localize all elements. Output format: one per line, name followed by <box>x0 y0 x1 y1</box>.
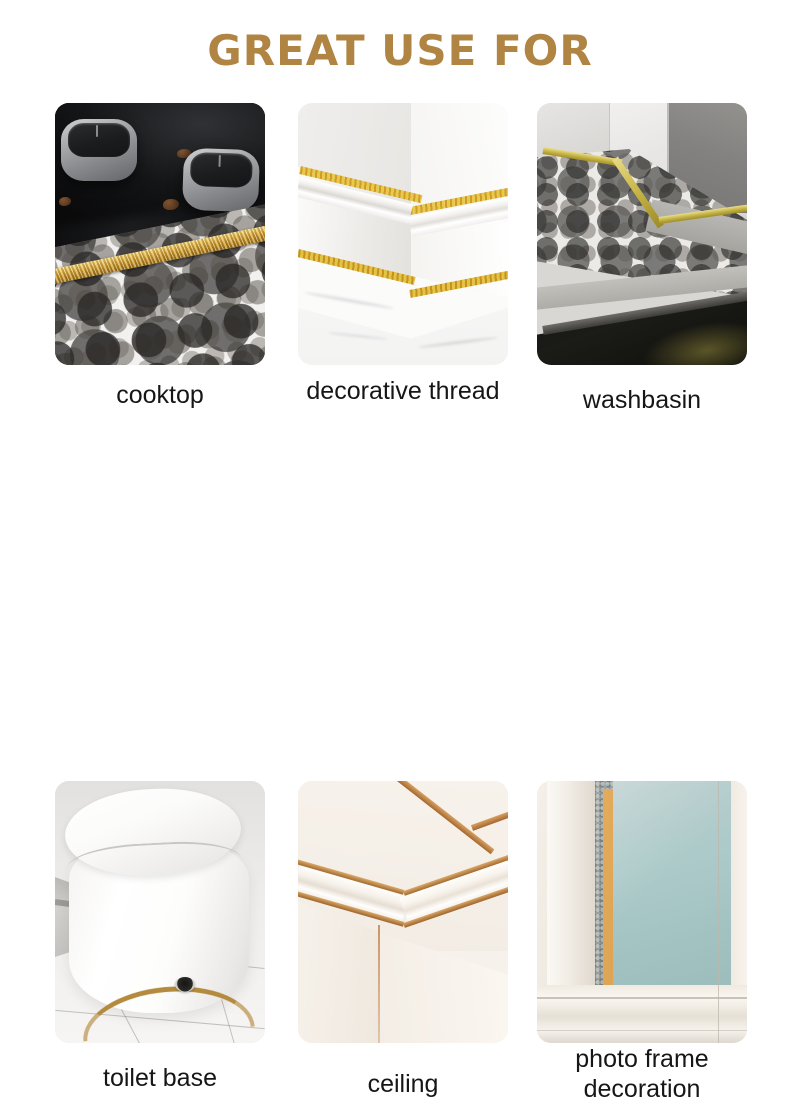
frame-panel <box>613 781 731 989</box>
washbasin-image <box>537 103 747 365</box>
marble-vein <box>304 291 393 310</box>
cooktop-image <box>55 103 265 365</box>
caption-photo-frame-decoration: photo frame decoration <box>527 1045 757 1104</box>
ceiling-image <box>298 781 508 1043</box>
toilet-flush-button[interactable] <box>175 977 195 992</box>
grid-cell-ceiling[interactable]: ceiling <box>298 781 508 1043</box>
toilet-base-image <box>55 781 265 1043</box>
grid-cell-toilet-base[interactable]: toilet base <box>55 781 265 1043</box>
frame-right-groove <box>718 781 719 1043</box>
caption-cooktop: cooktop <box>45 381 275 411</box>
grid-row-2: toilet base ceiling <box>0 442 800 782</box>
grid-cell-washbasin[interactable]: washbasin <box>537 103 747 365</box>
grid-cell-cooktop[interactable]: cooktop <box>55 103 265 365</box>
wall-corner-line <box>378 925 380 1043</box>
panel-sheen <box>613 781 731 989</box>
grid-row-1: cooktop decorative thread <box>0 103 800 442</box>
caption-toilet-base: toilet base <box>45 1064 275 1094</box>
photo-frame-image <box>537 781 747 1043</box>
frame-bottom-groove-2 <box>537 1030 747 1031</box>
cooktop-knob-right[interactable] <box>182 148 260 213</box>
caption-decorative-thread: decorative thread <box>288 377 518 407</box>
use-case-grid: cooktop decorative thread <box>0 103 800 782</box>
grid-cell-decorative-thread[interactable]: decorative thread <box>298 103 508 365</box>
cooktop-knob-left[interactable] <box>61 119 137 181</box>
frame-bottom-rail <box>537 985 747 1043</box>
page-title: GREAT USE FOR <box>0 26 800 75</box>
caption-washbasin: washbasin <box>527 386 757 416</box>
decorative-thread-image <box>298 103 508 365</box>
caption-ceiling: ceiling <box>288 1070 518 1100</box>
frame-bottom-groove <box>537 997 747 999</box>
grid-cell-photo-frame-decoration[interactable]: photo frame decoration <box>537 781 747 1043</box>
